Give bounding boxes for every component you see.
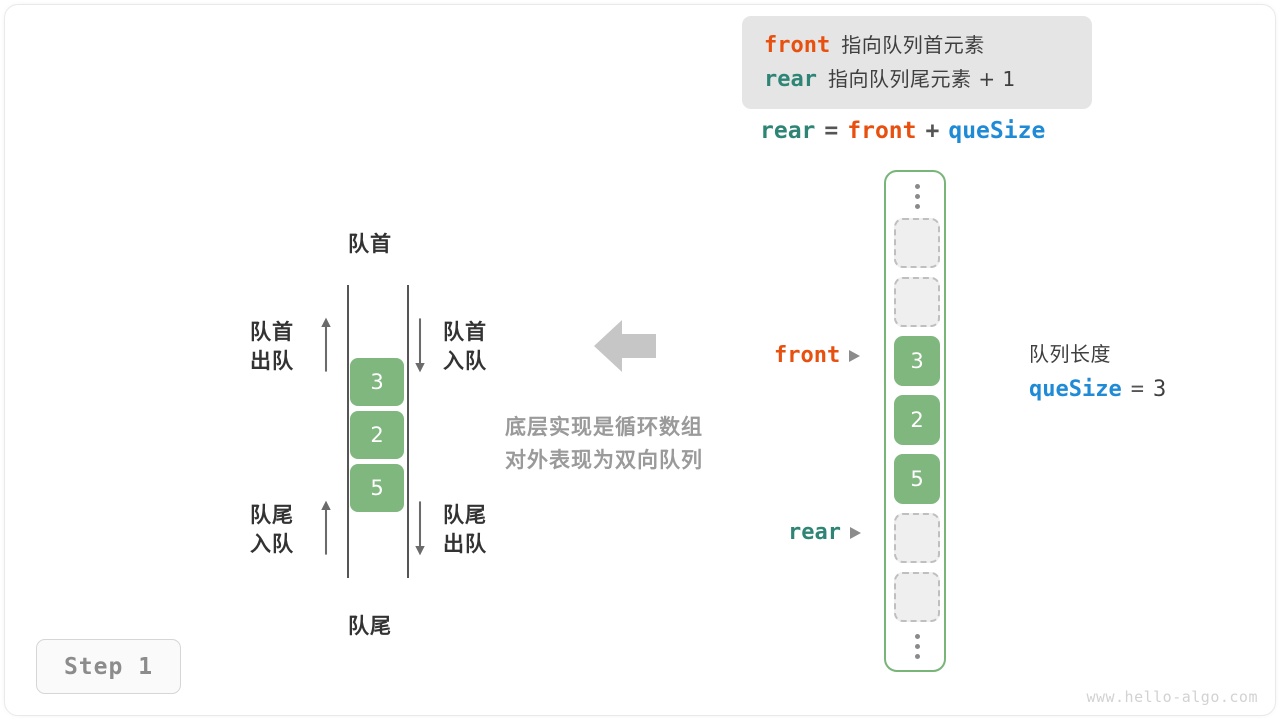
label-front-dequeue: 队首 出队 xyxy=(250,318,294,376)
label-front-dequeue-l2: 出队 xyxy=(250,347,294,376)
formula-lhs-rear: rear xyxy=(760,118,815,144)
label-front-enqueue-l1: 队首 xyxy=(443,318,487,347)
deque-rail-right xyxy=(407,285,409,578)
pointer-front-arrow-icon xyxy=(849,350,860,362)
watermark: www.hello-algo.com xyxy=(1086,688,1258,706)
label-front-enqueue: 队首 入队 xyxy=(443,318,487,376)
quesize-equals: = xyxy=(1131,377,1144,402)
deque-bottom-title: 队尾 xyxy=(348,610,392,640)
legend-desc-rear: 指向队列尾元素 + 1 xyxy=(828,63,1016,92)
pointer-front-label: front xyxy=(774,343,840,368)
diagram-canvas: front 指向队列首元素 rear 指向队列尾元素 + 1 rear = fr… xyxy=(0,0,1280,720)
deque-rail-left xyxy=(347,285,349,578)
step-badge: Step 1 xyxy=(36,639,181,694)
label-rear-dequeue-l2: 出队 xyxy=(443,530,487,559)
pointer-legend-box: front 指向队列首元素 rear 指向队列尾元素 + 1 xyxy=(742,16,1092,109)
array-cell-6 xyxy=(894,572,940,622)
deque-cell-1: 2 xyxy=(350,411,404,459)
pointer-front: front xyxy=(774,343,860,368)
legend-keyword-rear: rear xyxy=(764,67,817,92)
quesize-name: queSize xyxy=(1029,377,1122,402)
label-rear-enqueue-l1: 队尾 xyxy=(250,501,294,530)
array-cell-3: 2 xyxy=(894,395,940,445)
rear-formula: rear = front + queSize xyxy=(760,118,1045,144)
pointer-rear-label: rear xyxy=(788,520,841,545)
quesize-value: 3 xyxy=(1153,377,1166,402)
formula-quesize: queSize xyxy=(948,118,1045,144)
formula-front: front xyxy=(847,118,916,144)
array-cell-4: 5 xyxy=(894,454,940,504)
formula-equals: = xyxy=(824,118,838,144)
implementation-note: 底层实现是循环数组 对外表现为双向队列 xyxy=(505,411,703,477)
array-cell-5 xyxy=(894,513,940,563)
deque-cell-2: 5 xyxy=(350,464,404,512)
legend-line-rear: rear 指向队列尾元素 + 1 xyxy=(764,63,1092,97)
arrow-up-rear-enqueue-icon xyxy=(320,496,332,560)
label-front-enqueue-l2: 入队 xyxy=(443,347,487,376)
mapping-arrow-left-icon xyxy=(594,318,656,374)
label-rear-dequeue: 队尾 出队 xyxy=(443,501,487,559)
deque-top-title: 队首 xyxy=(348,228,392,258)
array-ellipsis-bottom-icon xyxy=(886,626,948,666)
pointer-rear: rear xyxy=(788,520,861,545)
quesize-title: 队列长度 xyxy=(1029,338,1166,367)
array-ellipsis-top-icon xyxy=(886,176,948,216)
formula-plus: + xyxy=(926,118,940,144)
legend-line-front: front 指向队列首元素 xyxy=(764,29,1092,63)
legend-desc-front: 指向队列首元素 xyxy=(841,29,985,58)
pointer-rear-arrow-icon xyxy=(850,527,861,539)
label-rear-dequeue-l1: 队尾 xyxy=(443,501,487,530)
implementation-note-line2: 对外表现为双向队列 xyxy=(505,444,703,477)
quesize-annotation: 队列长度 queSize = 3 xyxy=(1029,338,1166,402)
array-cell-0 xyxy=(894,218,940,268)
array-cell-2: 3 xyxy=(894,336,940,386)
deque-cell-0: 3 xyxy=(350,358,404,406)
array-cell-1 xyxy=(894,277,940,327)
arrow-down-rear-dequeue-icon xyxy=(414,496,426,560)
label-front-dequeue-l1: 队首 xyxy=(250,318,294,347)
arrow-up-front-dequeue-icon xyxy=(320,313,332,377)
arrow-down-front-enqueue-icon xyxy=(414,313,426,377)
label-rear-enqueue-l2: 入队 xyxy=(250,530,294,559)
legend-keyword-front: front xyxy=(764,33,830,58)
implementation-note-line1: 底层实现是循环数组 xyxy=(505,411,703,444)
circular-array-container: 3 2 5 xyxy=(884,170,946,672)
label-rear-enqueue: 队尾 入队 xyxy=(250,501,294,559)
